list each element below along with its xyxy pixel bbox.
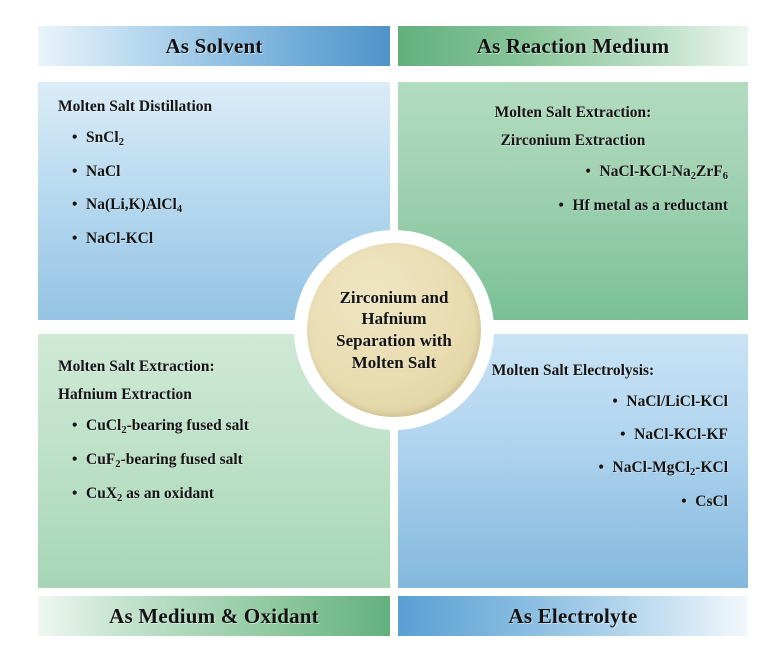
quadrant-header-label: As Solvent bbox=[165, 34, 262, 59]
quadrant-header-as-medium-oxidant: As Medium & Oxidant bbox=[38, 596, 390, 636]
list-item: •NaCl bbox=[58, 163, 370, 181]
list-item: •NaCl-KCl bbox=[58, 230, 370, 248]
bullet-glyph: • bbox=[72, 417, 86, 435]
bullet-glyph: • bbox=[72, 163, 86, 181]
list-item: •CuF2-bearing fused salt bbox=[58, 451, 370, 470]
center-circle: Zirconium and Hafnium Separation with Mo… bbox=[307, 243, 481, 417]
bullet-list-as-reaction-medium: •NaCl-KCl-Na2ZrF6 •Hf metal as a reducta… bbox=[418, 163, 728, 215]
list-item-label: CuCl bbox=[86, 417, 121, 434]
quadrant-header-as-electrolyte: As Electrolyte bbox=[398, 596, 748, 636]
list-item: •CuX2 as an oxidant bbox=[58, 485, 370, 504]
bullet-glyph: • bbox=[681, 493, 695, 511]
bullet-glyph: • bbox=[599, 459, 613, 477]
center-title-line-4: Molten Salt bbox=[336, 352, 452, 374]
list-item: •Hf metal as a reductant bbox=[418, 197, 728, 215]
bullet-glyph: • bbox=[72, 485, 86, 503]
section-heading: Molten Salt Extraction: bbox=[418, 104, 728, 122]
subscript-2: 6 bbox=[723, 171, 728, 182]
section-heading: Molten Salt Distillation bbox=[58, 98, 370, 116]
list-item-label: CsCl bbox=[695, 493, 728, 510]
bullet-list-as-electrolyte: •NaCl/LiCl-KCl •NaCl-KCl-KF •NaCl-MgCl2-… bbox=[418, 393, 728, 511]
center-title-line-3: Separation with bbox=[336, 330, 452, 352]
subscript: 2 bbox=[119, 137, 124, 148]
list-item-label: CuF bbox=[86, 451, 115, 468]
list-item-label: Hf metal as a reductant bbox=[572, 197, 728, 214]
list-item: •CuCl2-bearing fused salt bbox=[58, 417, 370, 436]
bullet-list-as-medium-oxidant: •CuCl2-bearing fused salt •CuF2-bearing … bbox=[58, 417, 370, 504]
list-item-label: NaCl-MgCl bbox=[613, 459, 691, 476]
list-item-label-cont: as an oxidant bbox=[122, 485, 214, 502]
list-item: •NaCl-MgCl2-KCl bbox=[418, 459, 728, 478]
bullet-glyph: • bbox=[620, 426, 634, 444]
bullet-glyph: • bbox=[72, 230, 86, 248]
list-item-label-cont: -bearing fused salt bbox=[121, 451, 243, 468]
list-item-label: NaCl-KCl-Na bbox=[600, 163, 691, 180]
bullet-glyph: • bbox=[586, 163, 600, 181]
bullet-glyph: • bbox=[558, 197, 572, 215]
list-item: •NaCl-KCl-Na2ZrF6 bbox=[418, 163, 728, 182]
list-item-label: NaCl-KCl bbox=[86, 230, 153, 247]
bullet-glyph: • bbox=[72, 129, 86, 147]
bullet-list-as-solvent: •SnCl2 •NaCl •Na(Li,K)AlCl4 •NaCl-KCl bbox=[58, 129, 370, 248]
list-item-label: NaCl/LiCl-KCl bbox=[626, 393, 728, 410]
section-subheading: Zirconium Extraction bbox=[418, 132, 728, 150]
list-item-label-cont: ZrF bbox=[696, 163, 723, 180]
quadrant-header-as-solvent: As Solvent bbox=[38, 26, 390, 66]
center-title-line-2: Hafnium bbox=[336, 308, 452, 330]
list-item: •SnCl2 bbox=[58, 129, 370, 148]
figure-canvas: As Solvent Molten Salt Distillation •SnC… bbox=[0, 0, 784, 660]
quadrant-header-label: As Electrolyte bbox=[509, 604, 638, 629]
list-item: •Na(Li,K)AlCl4 bbox=[58, 196, 370, 215]
list-item: •CsCl bbox=[418, 493, 728, 511]
list-item-label: SnCl bbox=[86, 129, 119, 146]
quadrant-header-label: As Reaction Medium bbox=[477, 34, 670, 59]
center-title: Zirconium and Hafnium Separation with Mo… bbox=[328, 287, 460, 373]
quadrant-header-label: As Medium & Oxidant bbox=[109, 604, 319, 629]
list-item-label-cont: -KCl bbox=[695, 459, 728, 476]
bullet-glyph: • bbox=[72, 196, 86, 214]
list-item-label: Na(Li,K)AlCl bbox=[86, 196, 177, 213]
list-item-label-cont: -bearing fused salt bbox=[127, 417, 249, 434]
list-item-label: NaCl-KCl-KF bbox=[634, 426, 728, 443]
center-title-line-1: Zirconium and bbox=[336, 287, 452, 309]
quadrant-header-as-reaction-medium: As Reaction Medium bbox=[398, 26, 748, 66]
subscript: 4 bbox=[177, 204, 182, 215]
bullet-glyph: • bbox=[612, 393, 626, 411]
list-item: •NaCl-KCl-KF bbox=[418, 426, 728, 444]
bullet-glyph: • bbox=[72, 451, 86, 469]
list-item-label: CuX bbox=[86, 485, 117, 502]
list-item-label: NaCl bbox=[86, 163, 120, 180]
